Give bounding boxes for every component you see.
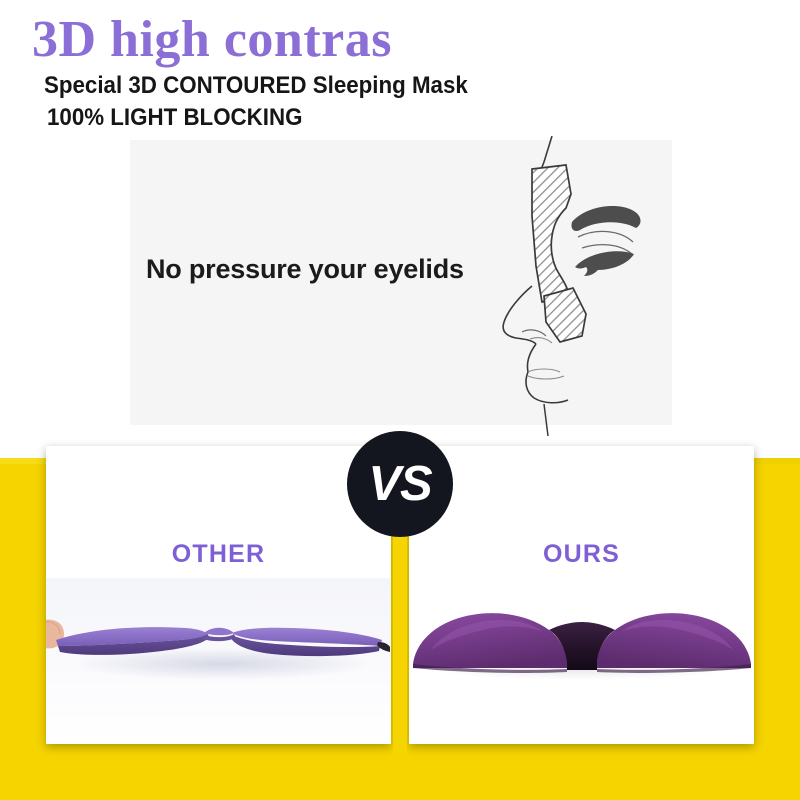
sleep-mask-upper-cross-section xyxy=(532,165,571,302)
contoured-3d-sleep-mask-side-view-photo xyxy=(409,578,754,744)
nose-profile xyxy=(503,286,536,344)
sleep-mask-lower-cross-section xyxy=(544,288,586,342)
chin-profile xyxy=(534,398,568,403)
vs-badge-label: VS xyxy=(368,460,431,509)
lip-line-upper xyxy=(528,369,560,372)
upper-lip-profile xyxy=(527,344,536,372)
eye-crease-upper xyxy=(578,231,633,242)
lip-line-lower xyxy=(528,376,564,379)
closed-eye-with-lashes xyxy=(575,251,634,276)
comparison-card-other: OTHER xyxy=(46,446,391,744)
jaw-line xyxy=(544,404,548,436)
lower-lip-profile xyxy=(526,372,534,398)
illustration-caption: No pressure your eyelids xyxy=(146,254,464,285)
page-title: 3D high contras xyxy=(32,14,392,66)
illustration-panel: No pressure your eyelids xyxy=(130,140,672,425)
product-marketing-image: 3D high contras Special 3D CONTOURED Sle… xyxy=(0,0,800,800)
nostril-line xyxy=(522,330,546,336)
subtitle-line-2: 100% LIGHT BLOCKING xyxy=(47,106,302,130)
comparison-card-ours: OURS xyxy=(409,446,754,744)
eyebrow xyxy=(571,206,640,231)
flat-sleep-mask-side-view-photo xyxy=(46,578,391,744)
vs-badge: VS xyxy=(347,431,453,537)
face-profile-with-contoured-mask-line-art xyxy=(460,136,690,436)
subtitle-line-1: Special 3D CONTOURED Sleeping Mask xyxy=(44,74,468,98)
comparison-label-other: OTHER xyxy=(46,540,391,569)
comparison-label-ours: OURS xyxy=(409,540,754,569)
